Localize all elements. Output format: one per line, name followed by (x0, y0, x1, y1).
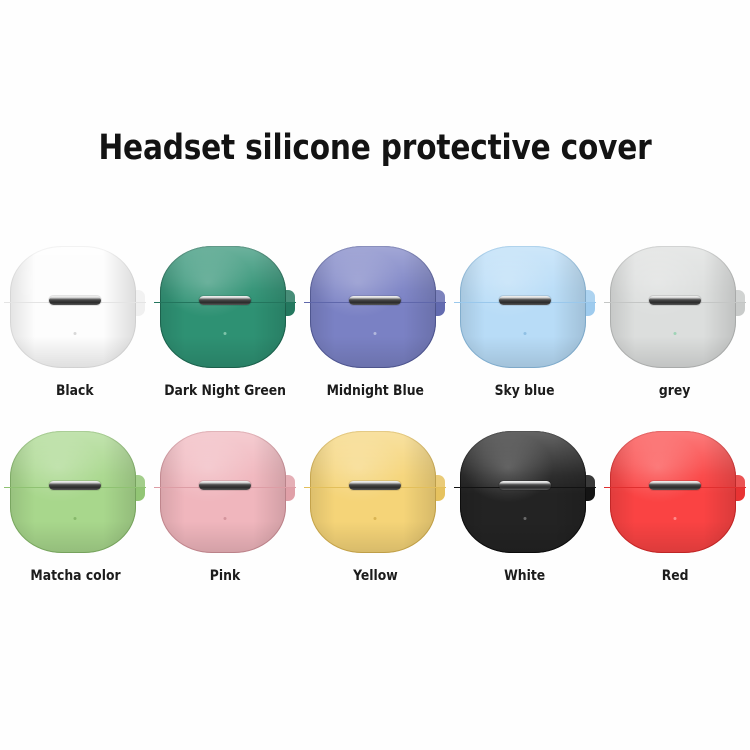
led-indicator-icon (374, 332, 377, 335)
hinge-slot-icon (349, 296, 401, 305)
hinge-slot-icon (499, 296, 551, 305)
variant-item-red[interactable]: Red (600, 421, 750, 606)
variant-label: Black (56, 382, 94, 400)
variant-item-black[interactable]: Black (0, 236, 150, 421)
case-body (460, 431, 586, 553)
variant-label: Matcha color (30, 567, 120, 585)
earbud-case-image (604, 246, 746, 370)
variant-label: Red (662, 567, 689, 585)
case-body (460, 246, 586, 368)
case-body (160, 246, 286, 368)
variant-label: White (504, 567, 545, 585)
hinge-slot-icon (49, 481, 101, 490)
hinge-slot-icon (649, 296, 701, 305)
led-indicator-icon (674, 332, 677, 335)
case-body (10, 246, 136, 368)
variant-item-yellow[interactable]: Yellow (300, 421, 450, 606)
led-indicator-icon (374, 517, 377, 520)
color-variant-grid: Black Dark Night Green (0, 236, 750, 606)
variant-item-pink[interactable]: Pink (150, 421, 300, 606)
earbud-case-image (4, 431, 146, 555)
earbud-case-image (604, 431, 746, 555)
variant-label: Pink (210, 567, 240, 585)
product-color-chart: Headset silicone protective cover Black (0, 0, 750, 750)
earbud-case-image (154, 246, 296, 370)
variant-row: Black Dark Night Green (0, 236, 750, 421)
earbud-case-image (154, 431, 296, 555)
earbud-case-image (304, 431, 446, 555)
case-body (310, 246, 436, 368)
hinge-slot-icon (349, 481, 401, 490)
hinge-slot-icon (49, 296, 101, 305)
case-body (160, 431, 286, 553)
case-body (10, 431, 136, 553)
case-body (310, 431, 436, 553)
hinge-slot-icon (199, 481, 251, 490)
led-indicator-icon (524, 332, 527, 335)
variant-row: Matcha color Pink (0, 421, 750, 606)
variant-item-white[interactable]: White (450, 421, 600, 606)
led-indicator-icon (74, 332, 77, 335)
variant-item-dark-night-green[interactable]: Dark Night Green (150, 236, 300, 421)
variant-item-matcha-color[interactable]: Matcha color (0, 421, 150, 606)
led-indicator-icon (74, 517, 77, 520)
earbud-case-image (4, 246, 146, 370)
hinge-slot-icon (199, 296, 251, 305)
led-indicator-icon (224, 517, 227, 520)
led-indicator-icon (524, 517, 527, 520)
variant-label: Sky blue (495, 382, 555, 400)
case-body (610, 246, 736, 368)
variant-item-midnight-blue[interactable]: Midnight Blue (300, 236, 450, 421)
earbud-case-image (304, 246, 446, 370)
variant-label: Yellow (353, 567, 398, 585)
variant-label: Midnight Blue (326, 382, 423, 400)
case-body (610, 431, 736, 553)
variant-label: grey (659, 382, 690, 400)
variant-label: Dark Night Green (164, 382, 286, 400)
variant-item-sky-blue[interactable]: Sky blue (450, 236, 600, 421)
hinge-slot-icon (499, 481, 551, 490)
page-title: Headset silicone protective cover (23, 126, 728, 170)
earbud-case-image (454, 431, 596, 555)
led-indicator-icon (224, 332, 227, 335)
earbud-case-image (454, 246, 596, 370)
led-indicator-icon (674, 517, 677, 520)
variant-item-grey[interactable]: grey (600, 236, 750, 421)
hinge-slot-icon (649, 481, 701, 490)
